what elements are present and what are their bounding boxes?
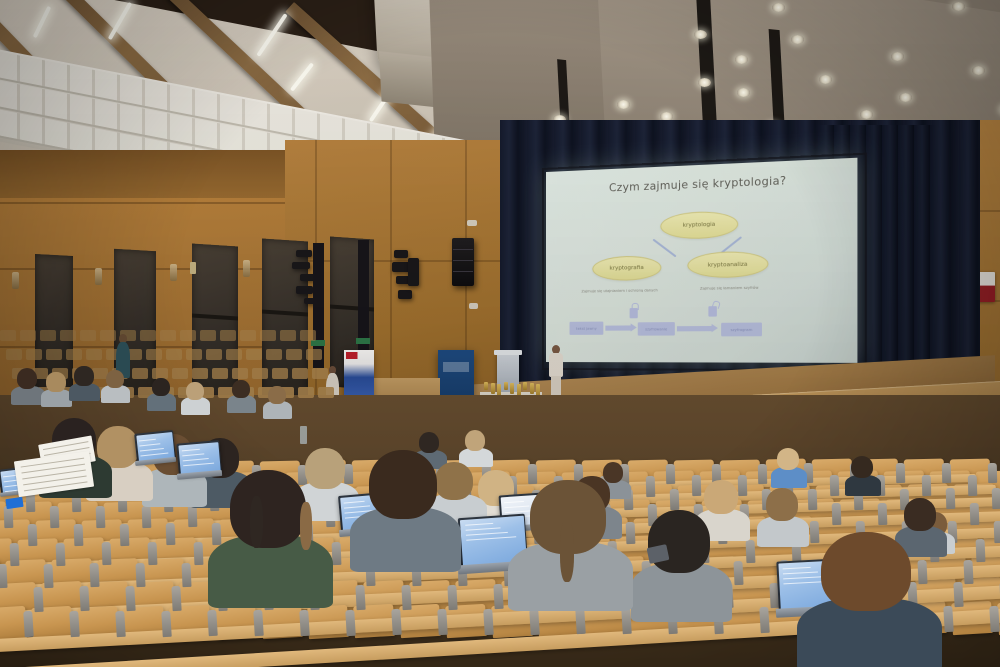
seat-armrest [28, 524, 38, 546]
screen-text-line [139, 438, 155, 441]
person-head [74, 366, 93, 386]
screen-text-line [783, 566, 811, 568]
person-head [766, 488, 798, 521]
paper-text-line [21, 458, 84, 468]
stage-light [394, 250, 408, 258]
person-ponytail [300, 502, 312, 550]
seat-armrest [166, 523, 176, 545]
seat-armrest [89, 563, 99, 587]
seat-armrest [96, 506, 106, 528]
recessed-downlight [617, 100, 630, 109]
seat-armrest [878, 503, 888, 525]
seat-armrest [942, 463, 951, 483]
student-far-g [230, 380, 252, 408]
screen-text-line [140, 447, 164, 451]
seat-armrest [188, 505, 198, 527]
person-head [821, 532, 911, 611]
seat-armrest [970, 503, 980, 525]
seat-armrest [0, 564, 8, 588]
student-far-c [72, 366, 96, 396]
seat-armrest [670, 489, 680, 510]
seat-armrest [922, 475, 932, 496]
recessed-downlight [952, 2, 965, 11]
student-far-l [774, 448, 802, 482]
recessed-downlight [737, 88, 750, 97]
student-far-h [266, 386, 288, 414]
seat-armrest [963, 559, 973, 583]
screen-text-line [181, 448, 199, 451]
seat-armrest [808, 489, 818, 510]
screen-text-line [182, 458, 209, 461]
wall-sensor [469, 303, 478, 309]
seat-armrest [135, 563, 145, 587]
seat-armrest [666, 464, 675, 484]
seat-armrest [4, 506, 14, 528]
seat-armrest [115, 611, 126, 637]
person-head [648, 510, 710, 573]
recessed-downlight [899, 93, 912, 102]
stage-light-box [408, 258, 419, 286]
student-far-e [150, 378, 172, 406]
seat-armrest [181, 563, 191, 587]
seat-armrest [758, 463, 767, 483]
seat-armrest [43, 563, 53, 587]
seat-armrest [142, 505, 152, 527]
recessed-downlight [860, 110, 873, 119]
person-head [186, 382, 204, 400]
seat-armrest [953, 582, 963, 607]
wall-camera [467, 220, 477, 226]
screen-text-line [465, 527, 501, 530]
seat-armrest [401, 585, 411, 610]
laptop-left-1[interactable] [134, 430, 174, 471]
recessed-downlight [819, 75, 832, 84]
seat-armrest [69, 611, 80, 637]
recessed-downlight [891, 52, 904, 61]
screen-text-line [182, 453, 204, 456]
seat-armrest [299, 610, 310, 636]
recessed-downlight [772, 3, 785, 12]
person-head [46, 372, 65, 392]
recessed-downlight [972, 66, 985, 75]
student-foreground-right [810, 532, 922, 652]
student-row2-j [762, 488, 802, 538]
seat-armrest [976, 539, 986, 562]
seat-armrest [10, 543, 20, 566]
seat-armrest [988, 463, 997, 483]
seat-armrest [161, 610, 172, 636]
student-far-b [44, 372, 68, 402]
screen-text-line [466, 536, 516, 540]
seat-armrest [992, 488, 1000, 509]
person-head [17, 368, 38, 389]
water-bottle [300, 426, 307, 444]
seat-armrest [391, 609, 402, 635]
seat-armrest [207, 610, 218, 636]
person-head [851, 456, 873, 478]
student-mid-left [360, 450, 446, 554]
seat-armrest [23, 611, 34, 637]
screen-text-line [140, 443, 160, 446]
person-ponytail [560, 520, 574, 582]
seat-armrest [759, 607, 770, 633]
seat-armrest [832, 503, 842, 525]
screen-text-line [183, 462, 214, 466]
lecture-hall-photo: Czym zajmuje się kryptologia? kryptologi… [0, 0, 1000, 667]
seat-armrest [943, 606, 954, 632]
student-far-f [184, 382, 206, 410]
seat-armrest [746, 540, 756, 563]
seat-armrest [332, 541, 342, 564]
student-far-m [848, 456, 876, 490]
seat-armrest [733, 560, 743, 584]
screen-text-line [141, 452, 169, 456]
seat-armrest [125, 586, 135, 611]
screen-text-line [3, 474, 17, 477]
person-head [230, 470, 307, 548]
person-head [904, 498, 936, 531]
seat-armrest [575, 608, 586, 634]
stage-light [398, 290, 412, 299]
seat-armrest [994, 520, 1000, 542]
recessed-downlight [698, 78, 711, 87]
seat-armrest [626, 522, 636, 544]
recessed-downlight [694, 30, 707, 39]
person-head [465, 430, 486, 451]
seat-armrest [483, 609, 494, 635]
seat-armrest [102, 542, 112, 565]
laptop-screen [178, 442, 220, 474]
seat-armrest [946, 488, 956, 509]
screen-text-line [465, 531, 508, 535]
seat-armrest [253, 610, 264, 636]
seat-armrest [830, 475, 840, 496]
stage-light [292, 262, 310, 269]
stage-light [296, 250, 312, 257]
person-head [777, 448, 799, 470]
person-head [369, 450, 438, 519]
person-head [268, 386, 286, 404]
seat-armrest [79, 586, 89, 611]
screen-text-line [465, 522, 494, 525]
person-head [152, 378, 170, 396]
recessed-downlight [791, 35, 804, 44]
seat-armrest [646, 475, 656, 496]
student-far-j [462, 430, 488, 462]
seat-armrest [447, 584, 457, 609]
student-far-d [104, 370, 126, 398]
person-head [232, 380, 250, 398]
seat-armrest [50, 506, 60, 528]
line-array-speaker-left [452, 238, 474, 286]
student-far-a [14, 368, 40, 400]
wall-fixture [190, 262, 196, 274]
seat-armrest [33, 586, 43, 611]
person-head [106, 370, 124, 388]
seat-armrest [355, 585, 365, 610]
seat-armrest [989, 606, 1000, 632]
seat-armrest [171, 586, 181, 611]
seat-armrest [529, 608, 540, 634]
seat-armrest [56, 542, 66, 565]
seat-armrest [493, 584, 503, 609]
seat-armrest [968, 475, 978, 496]
laptop-left-2[interactable] [176, 440, 220, 485]
seat-armrest [148, 542, 158, 565]
seat-armrest [74, 524, 84, 546]
seat-armrest [120, 523, 130, 545]
stage-light [296, 286, 313, 294]
seat-armrest [194, 542, 204, 565]
recessed-downlight [735, 55, 748, 64]
person-ponytail [250, 496, 263, 548]
seat-armrest [345, 609, 356, 635]
seat-armrest [437, 609, 448, 635]
seat-armrest [896, 463, 905, 483]
